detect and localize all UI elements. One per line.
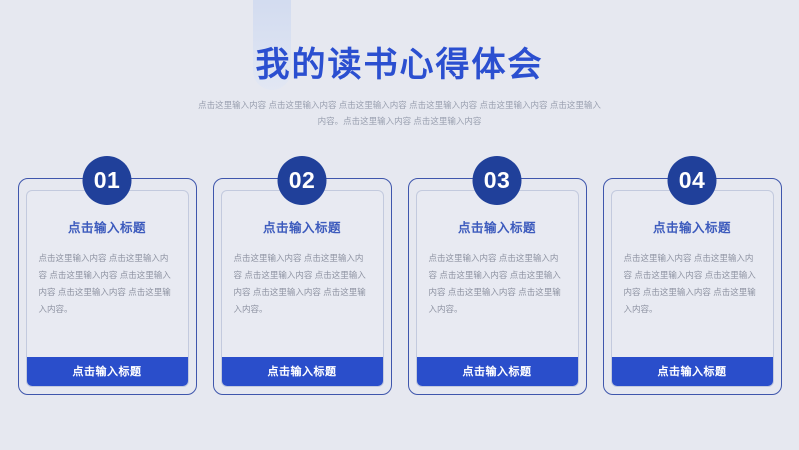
card-number-badge: 04 xyxy=(668,156,717,205)
page-subtitle: 点击这里输入内容 点击这里输入内容 点击这里输入内容 点击这里输入内容 点击这里… xyxy=(198,98,602,129)
card-inner-panel: 点击输入标题 点击这里输入内容 点击这里输入内容 点击这里输入内容 点击这里输入… xyxy=(611,190,774,387)
slide-header: 我的读书心得体会 点击这里输入内容 点击这里输入内容 点击这里输入内容 点击这里… xyxy=(0,0,799,129)
card-inner-panel: 点击输入标题 点击这里输入内容 点击这里输入内容 点击这里输入内容 点击这里输入… xyxy=(416,190,579,387)
card-body-text: 点击这里输入内容 点击这里输入内容 点击这里输入内容 点击这里输入内容 点击这里… xyxy=(429,250,566,357)
card-action-button[interactable]: 点击输入标题 xyxy=(222,357,383,386)
card-inner-panel: 点击输入标题 点击这里输入内容 点击这里输入内容 点击这里输入内容 点击这里输入… xyxy=(26,190,189,387)
card-02[interactable]: 02 点击输入标题 点击这里输入内容 点击这里输入内容 点击这里输入内容 点击这… xyxy=(213,156,392,418)
card-number-badge: 01 xyxy=(83,156,132,205)
card-number-badge: 03 xyxy=(473,156,522,205)
card-title: 点击输入标题 xyxy=(612,217,773,236)
card-number-badge: 02 xyxy=(278,156,327,205)
card-action-button[interactable]: 点击输入标题 xyxy=(612,357,773,386)
cards-row: 01 点击输入标题 点击这里输入内容 点击这里输入内容 点击这里输入内容 点击这… xyxy=(0,156,799,418)
card-body-text: 点击这里输入内容 点击这里输入内容 点击这里输入内容 点击这里输入内容 点击这里… xyxy=(234,250,371,357)
card-body-text: 点击这里输入内容 点击这里输入内容 点击这里输入内容 点击这里输入内容 点击这里… xyxy=(624,250,761,357)
card-body-text: 点击这里输入内容 点击这里输入内容 点击这里输入内容 点击这里输入内容 点击这里… xyxy=(39,250,176,357)
card-title: 点击输入标题 xyxy=(27,217,188,236)
card-title: 点击输入标题 xyxy=(222,217,383,236)
card-04[interactable]: 04 点击输入标题 点击这里输入内容 点击这里输入内容 点击这里输入内容 点击这… xyxy=(603,156,782,418)
card-action-button[interactable]: 点击输入标题 xyxy=(417,357,578,386)
card-03[interactable]: 03 点击输入标题 点击这里输入内容 点击这里输入内容 点击这里输入内容 点击这… xyxy=(408,156,587,418)
card-title: 点击输入标题 xyxy=(417,217,578,236)
card-inner-panel: 点击输入标题 点击这里输入内容 点击这里输入内容 点击这里输入内容 点击这里输入… xyxy=(221,190,384,387)
card-01[interactable]: 01 点击输入标题 点击这里输入内容 点击这里输入内容 点击这里输入内容 点击这… xyxy=(18,156,197,418)
card-action-button[interactable]: 点击输入标题 xyxy=(27,357,188,386)
page-title: 我的读书心得体会 xyxy=(0,48,799,82)
